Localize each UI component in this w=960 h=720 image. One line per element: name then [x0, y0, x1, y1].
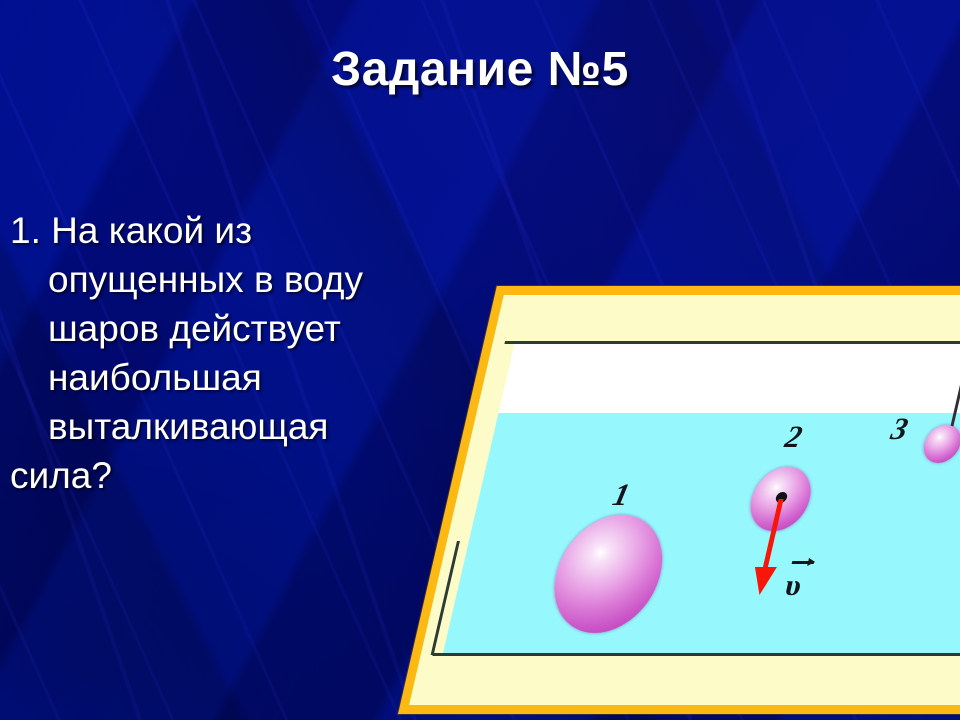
vector-arrow-icon [792, 561, 815, 564]
question-line-4: наибольшая [10, 353, 450, 402]
illustration-panel: 1 2 3 υ [398, 286, 960, 714]
vessel-air-region [498, 343, 960, 413]
slide-title: Задание №5 [0, 42, 960, 97]
vessel-rim-line [504, 341, 960, 344]
vessel-bottom-wall [432, 653, 960, 656]
vessel-water-region [443, 413, 960, 655]
question-text: 1. На какой из опущенных в воду шаров де… [10, 206, 450, 500]
question-line-5: выталкивающая [10, 402, 450, 451]
question-line-6: сила? [10, 451, 450, 500]
question-line-2: опущенных в воду [10, 255, 450, 304]
question-line-3: шаров действует [10, 304, 450, 353]
water-vessel: 1 2 3 υ [443, 343, 960, 655]
panel-face: 1 2 3 υ [409, 295, 960, 705]
question-line-1: 1. На какой из [10, 206, 450, 255]
slide-canvas: Задание №5 1. На какой из опущенных в во… [0, 0, 960, 720]
